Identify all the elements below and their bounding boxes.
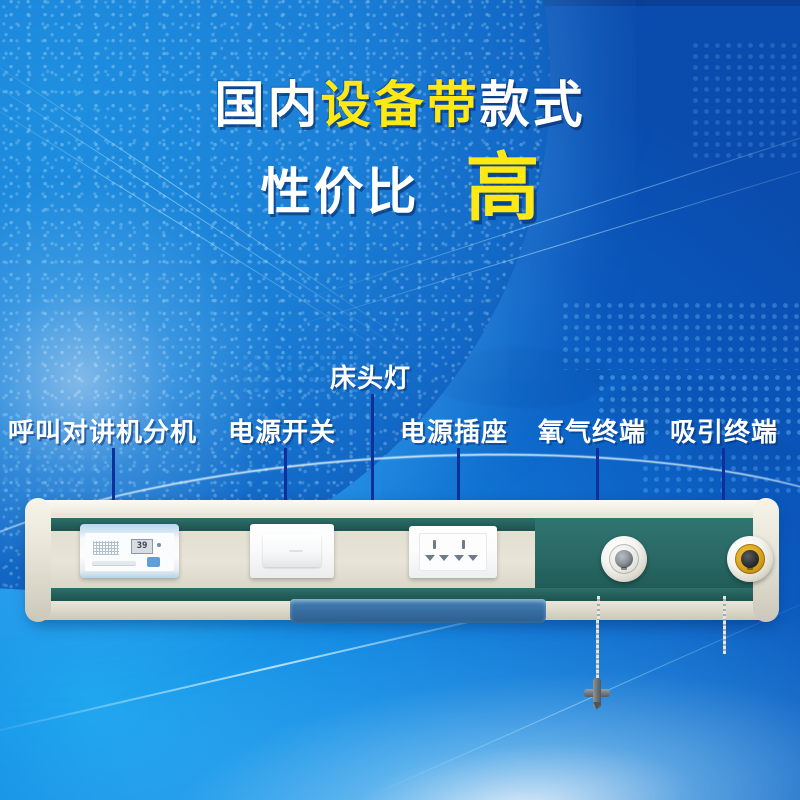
suction-terminal-mark — [747, 567, 753, 570]
callout-label-power-socket: 电源插座 — [400, 412, 508, 449]
oxygen-terminal-port[interactable] — [615, 550, 633, 568]
oxygen-chain — [597, 596, 600, 620]
intercom-face: 39 — [85, 533, 174, 571]
socket-slot-icon — [425, 555, 435, 561]
headline-line-1: 国内设备带款式 — [0, 78, 800, 133]
socket-slot-icon — [468, 555, 478, 561]
callout-label-suction: 吸引终端 — [670, 412, 778, 449]
bed-lamp-diffuser[interactable] — [290, 599, 546, 623]
callout-label-intercom: 呼叫对讲机分机 — [8, 412, 197, 449]
intercom-slot — [92, 561, 136, 566]
switch-marking — [289, 550, 303, 552]
halftone-dots — [640, 452, 800, 498]
status-led-icon — [157, 543, 161, 547]
bhu-end-cap-left — [25, 498, 51, 622]
callout-label-power-switch: 电源开关 — [228, 412, 336, 449]
headline-emphasis: 高 — [466, 151, 540, 225]
switch-rocker[interactable] — [263, 534, 321, 567]
oxygen-terminal-mark — [621, 567, 627, 570]
headline-seg-1: 国内 — [215, 77, 321, 133]
intercom-display: 39 — [131, 539, 153, 554]
socket-pin-icon — [433, 540, 436, 549]
callout-label-oxygen: 氧气终端 — [538, 412, 646, 449]
bhu-top-face — [28, 500, 776, 516]
nurse-call-intercom[interactable]: 39 — [80, 524, 179, 578]
hook-tip — [593, 702, 601, 710]
headline-value-phrase: 性价比 — [261, 152, 420, 224]
socket-slot-icon — [454, 555, 464, 561]
power-socket[interactable] — [409, 526, 497, 578]
headline-block: 国内设备带款式 性价比 高 — [0, 78, 800, 225]
suction-terminal-port[interactable] — [741, 550, 759, 568]
poster-canvas: 国内设备带款式 性价比 高 呼叫对讲机分机 电源开关 床头灯 电源插座 氧气终端… — [0, 0, 800, 800]
bed-head-unit: 39 — [28, 500, 776, 620]
power-switch[interactable] — [250, 524, 334, 578]
suction-chain — [723, 596, 726, 654]
intercom-display-value: 39 — [137, 542, 148, 551]
socket-pin-icon — [462, 540, 465, 549]
halftone-dots — [0, 452, 110, 492]
headline-seg-3: 款式 — [480, 77, 586, 133]
callout-label-bed-lamp: 床头灯 — [330, 358, 411, 395]
headline-seg-2-highlight: 设备带 — [321, 77, 480, 133]
speaker-grille-icon — [93, 541, 119, 555]
call-button[interactable] — [147, 557, 160, 567]
pull-chain[interactable] — [596, 620, 599, 684]
socket-face — [419, 533, 487, 571]
pull-chain-hook[interactable] — [584, 678, 610, 708]
oxygen-terminal[interactable] — [601, 536, 647, 582]
socket-slot-icon — [439, 555, 449, 561]
headline-line-2: 性价比 高 — [0, 151, 800, 225]
halftone-dots — [560, 300, 800, 370]
suction-terminal[interactable] — [727, 536, 773, 582]
